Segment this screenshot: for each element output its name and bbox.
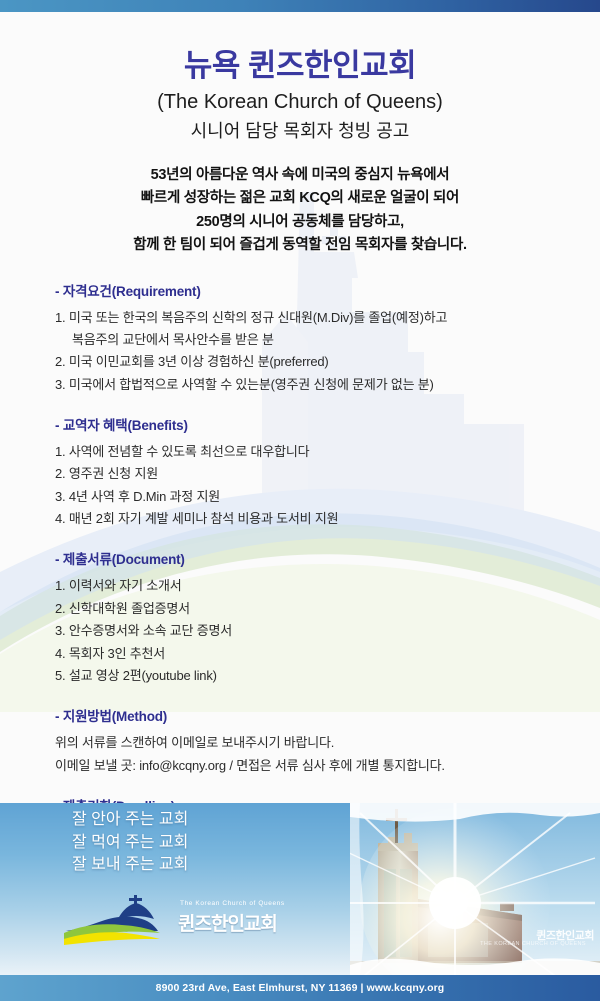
page-title-english: (The Korean Church of Queens) bbox=[0, 87, 600, 117]
slogan-line: 잘 안아 주는 교회 bbox=[72, 809, 188, 832]
intro-line: 빠르게 성장하는 젊은 교회 KCQ의 새로운 얼굴이 되어 bbox=[0, 187, 600, 210]
page-title: 뉴욕 퀸즈한인교회 bbox=[0, 48, 600, 84]
section-line: 위의 서류를 스캔하여 이메일로 보내주시기 바랍니다. bbox=[55, 732, 570, 754]
section-line: 3. 안수증명서와 소속 교단 증명서 bbox=[55, 620, 570, 642]
section-line: 4. 목회자 3인 추천서 bbox=[55, 643, 570, 665]
slogan-block: 잘 안아 주는 교회 잘 먹여 주는 교회 잘 보내 주는 교회 bbox=[72, 809, 188, 877]
section-heading: - 자격요건(Requirement) bbox=[55, 280, 570, 300]
section-line: 1. 사역에 전념할 수 있도록 최선으로 대우합니다 bbox=[55, 441, 570, 463]
section-line: 1. 이력서와 자기 소개서 bbox=[55, 575, 570, 597]
church-logo: The Korean Church of Queens 퀸즈한인교회 bbox=[62, 895, 292, 955]
intro-line: 250명의 시니어 공동체를 담당하고, bbox=[0, 211, 600, 234]
intro-line: 함께 한 팀이 되어 즐겁게 동역할 전임 목회자를 찾습니다. bbox=[0, 234, 600, 257]
poster-content: 뉴욕 퀸즈한인교회 (The Korean Church of Queens) … bbox=[0, 0, 600, 866]
photo-church-name-en: THE KOREAN CHURCH OF QUEENS bbox=[480, 941, 586, 947]
page-subtitle: 시니어 담당 목회자 청빙 공고 bbox=[0, 118, 600, 145]
slogan-line: 잘 먹여 주는 교회 bbox=[72, 832, 188, 855]
section-heading: - 제출서류(Document) bbox=[55, 548, 570, 568]
bottom-banner: 퀸즈한인교회 THE KOREAN CHURCH OF QUEENS 잘 안아 … bbox=[0, 803, 600, 975]
section-line: 복음주의 교단에서 목사안수를 받은 분 bbox=[55, 329, 570, 351]
section-line: 2. 신학대학원 졸업증명서 bbox=[55, 598, 570, 620]
poster: 뉴욕 퀸즈한인교회 (The Korean Church of Queens) … bbox=[0, 0, 600, 1001]
section-method: - 지원방법(Method) 위의 서류를 스캔하여 이메일로 보내주시기 바랍… bbox=[55, 705, 570, 777]
section-line: 5. 설교 영상 2편(youtube link) bbox=[55, 665, 570, 687]
section-heading: - 지원방법(Method) bbox=[55, 705, 570, 725]
section-line: 4. 매년 2회 자기 계발 세미나 참석 비용과 도서비 지원 bbox=[55, 508, 570, 530]
section-line: 2. 미국 이민교회를 3년 이상 경험하신 분(preferred) bbox=[55, 351, 570, 373]
slogan-line: 잘 보내 주는 교회 bbox=[72, 854, 188, 877]
top-accent-bar bbox=[0, 0, 600, 12]
section-line: 3. 4년 사역 후 D.Min 과정 지원 bbox=[55, 486, 570, 508]
footer-address-text[interactable]: 8900 23rd Ave, East Elmhurst, NY 11369 |… bbox=[156, 982, 445, 994]
intro-line: 53년의 아름다운 역사 속에 미국의 중심지 뉴욕에서 bbox=[0, 164, 600, 187]
church-building-photo bbox=[350, 803, 600, 975]
sections-container: - 자격요건(Requirement) 1. 미국 또는 한국의 복음주의 신학… bbox=[0, 280, 600, 848]
section-benefits: - 교역자 혜택(Benefits) 1. 사역에 전념할 수 있도록 최선으로… bbox=[55, 414, 570, 530]
section-line: 1. 미국 또는 한국의 복음주의 신학의 정규 신대원(M.Div)를 졸업(… bbox=[55, 307, 570, 329]
section-requirement: - 자격요건(Requirement) 1. 미국 또는 한국의 복음주의 신학… bbox=[55, 280, 570, 396]
logo-text-korean: 퀸즈한인교회 bbox=[178, 909, 277, 936]
section-heading: - 교역자 혜택(Benefits) bbox=[55, 414, 570, 434]
title-block: 뉴욕 퀸즈한인교회 (The Korean Church of Queens) … bbox=[0, 0, 600, 145]
intro-paragraph: 53년의 아름다운 역사 속에 미국의 중심지 뉴욕에서 빠르게 성장하는 젊은… bbox=[0, 164, 600, 258]
contact-email-line[interactable]: 이메일 보낼 곳: info@kcqny.org / 면접은 서류 심사 후에 … bbox=[55, 755, 570, 777]
section-line: 2. 영주권 신청 지원 bbox=[55, 463, 570, 485]
logo-text-english: The Korean Church of Queens bbox=[180, 900, 285, 907]
footer-address-bar: 8900 23rd Ave, East Elmhurst, NY 11369 |… bbox=[0, 975, 600, 1001]
section-line: 3. 미국에서 합법적으로 사역할 수 있는분(영주권 신청에 문제가 없는 분… bbox=[55, 374, 570, 396]
section-document: - 제출서류(Document) 1. 이력서와 자기 소개서 2. 신학대학원… bbox=[55, 548, 570, 687]
